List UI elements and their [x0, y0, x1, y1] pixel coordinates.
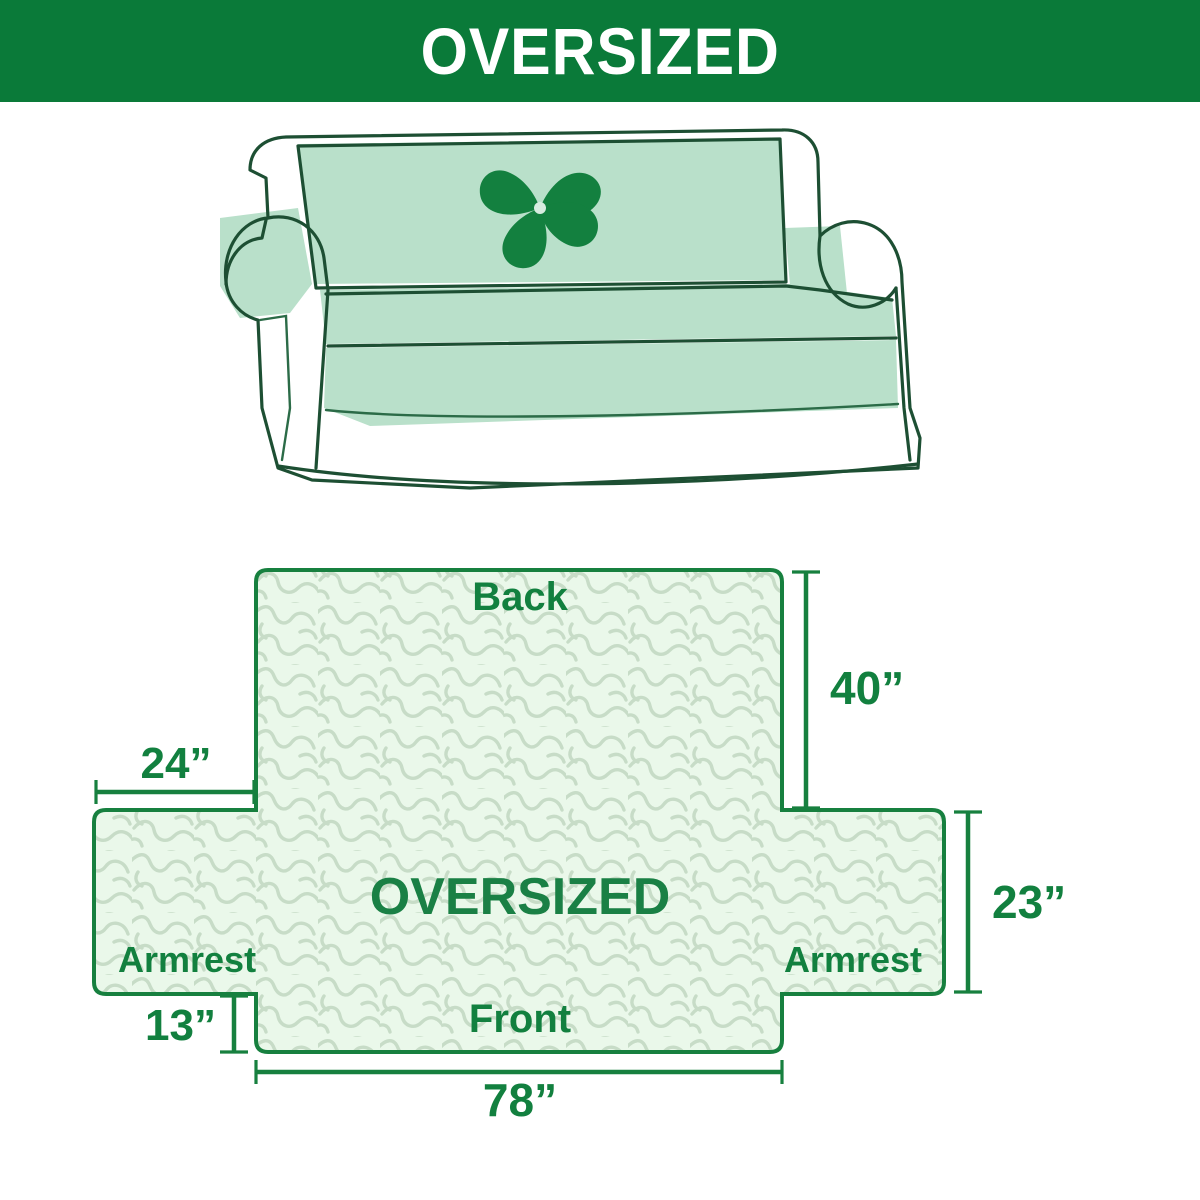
sofa-illustration-area: .so-fill{fill:#b9e0ca;} .so-line{fill:no… [0, 108, 1200, 528]
label-front: Front [469, 997, 571, 1041]
dimension-back-height: 40” [792, 572, 904, 808]
dimension-value-40: 40” [830, 662, 904, 714]
label-back: Back [472, 575, 568, 619]
dimension-value-13: 13” [145, 1001, 216, 1050]
dimension-total-width: 78” [256, 1060, 782, 1120]
dimension-diagram-area: .panel{fill:url(#squiggle);stroke:#17803… [0, 540, 1200, 1140]
label-armrest-right: Armrest [784, 939, 922, 980]
dimension-value-23: 23” [992, 876, 1066, 928]
dimension-armrest-height: 23” [954, 812, 1066, 992]
dimension-back-offset: 24” [96, 739, 254, 804]
dimension-value-78: 78” [483, 1074, 557, 1120]
page-title: OVERSIZED [420, 18, 779, 84]
sofa-seat-front-fill [324, 340, 898, 426]
dimension-diagram: .panel{fill:url(#squiggle);stroke:#17803… [70, 540, 1130, 1120]
sofa-left-gusset [260, 316, 290, 460]
sofa-illustration: .so-fill{fill:#b9e0ca;} .so-line{fill:no… [220, 108, 980, 508]
product-infographic: OVERSIZED .so-fill{fill:#b9e0ca;} .so-li… [0, 0, 1200, 1200]
label-center-oversized: OVERSIZED [370, 868, 671, 926]
dimension-front-offset: 13” [145, 996, 248, 1052]
header-banner: OVERSIZED [0, 0, 1200, 102]
fan-hub [534, 202, 546, 214]
dimension-value-24: 24” [141, 739, 212, 788]
label-armrest-left: Armrest [118, 939, 256, 980]
